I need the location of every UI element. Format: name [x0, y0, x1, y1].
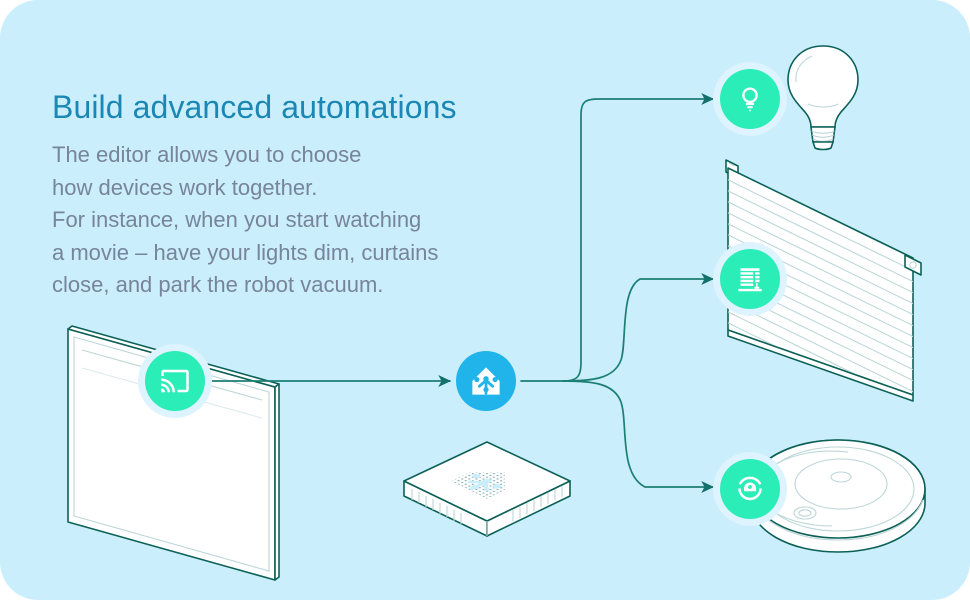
cast-icon [160, 366, 190, 396]
robot-vacuum-icon [735, 474, 765, 504]
cast-badge[interactable] [145, 351, 205, 411]
wire-hub-to-bulb [563, 99, 713, 381]
blinds-icon [735, 264, 765, 294]
illustration-card: Build advanced automations The editor al… [0, 0, 970, 600]
light-badge[interactable] [720, 69, 780, 129]
connector-lines: .wire{fill:none;stroke:#1c7f74;stroke-wi… [0, 0, 970, 600]
home-assistant-icon [470, 365, 502, 397]
wire-hub-to-vacuum [563, 381, 713, 487]
light-bulb-icon [735, 84, 765, 114]
vacuum-badge[interactable] [720, 459, 780, 519]
wire-hub-to-blinds [563, 279, 713, 381]
home-assistant-badge[interactable] [456, 351, 516, 411]
blinds-badge[interactable] [720, 249, 780, 309]
